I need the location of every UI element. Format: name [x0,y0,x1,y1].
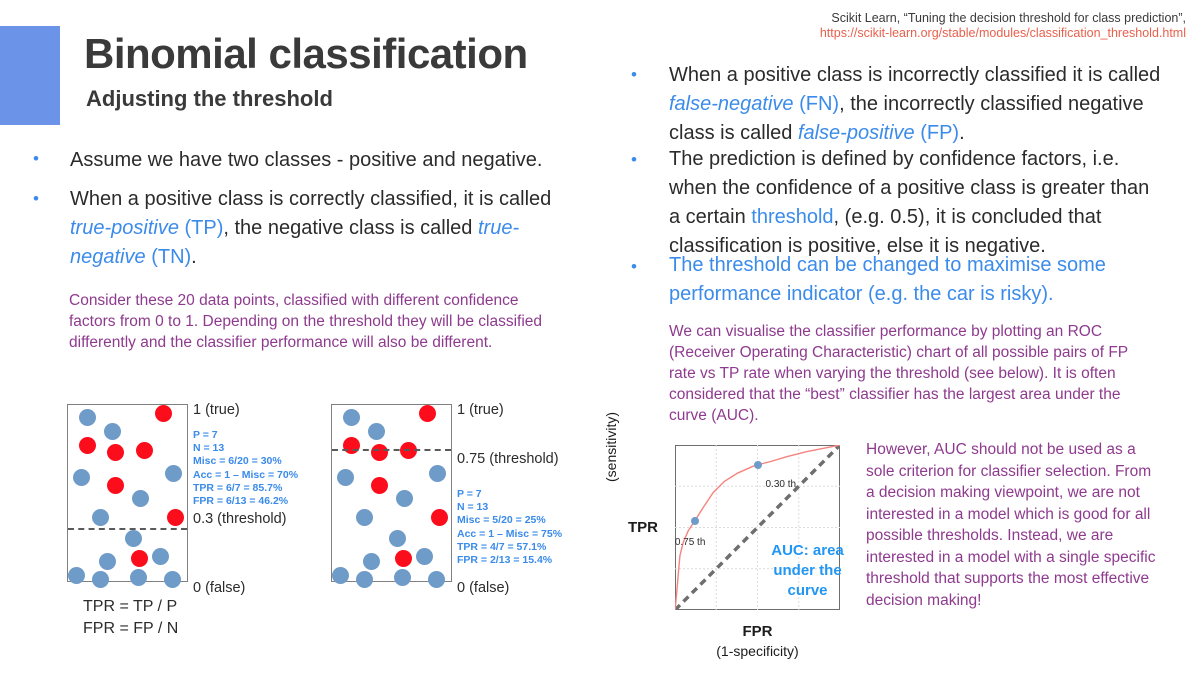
data-point-positive [152,548,169,565]
accent-square [0,26,60,125]
data-point-negative [136,442,153,459]
roc-xlabel: FPR [675,623,840,640]
stat-line: FPR = 6/13 = 46.2% [193,495,298,508]
stat-line: P = 7 [193,429,298,442]
data-point-positive [389,530,406,547]
data-point-negative [107,477,124,494]
data-point-negative [419,405,436,422]
left-bullet-2: When a positive class is correctly class… [70,185,590,272]
data-point-positive [429,465,446,482]
data-point-positive [416,548,433,565]
source-credit-link[interactable]: https://scikit-learn.org/stable/modules/… [566,26,1186,40]
data-point-negative [371,444,388,461]
diagram2-stats: P = 7N = 13Misc = 5/20 = 25%Acc = 1 – Mi… [457,488,562,567]
right-note-2: However, AUC should not be used as a sol… [866,439,1156,611]
threshold-line [68,528,187,530]
stat-line: FPR = 2/13 = 15.4% [457,554,562,567]
data-point-negative [155,405,172,422]
source-credit-title: Scikit Learn, “Tuning the decision thres… [566,11,1186,25]
roc-ylabel-sub: (sensitivity) [603,412,619,482]
data-point-positive [79,409,96,426]
left-bullet-1: Assume we have two classes - positive an… [70,146,600,175]
diagram2-threshold-label: 0.75 (threshold) [457,451,559,467]
page-subtitle: Adjusting the threshold [86,86,333,112]
stat-line: Acc = 1 – Misc = 70% [193,469,298,482]
stat-line: N = 13 [193,442,298,455]
bullet-dot-icon: • [631,258,637,275]
threshold-diagram-1 [67,404,188,582]
threshold-line [332,449,451,451]
left-note: Consider these 20 data points, classifie… [69,290,569,353]
bullet-dot-icon: • [631,151,637,168]
stat-line: TPR = 6/7 = 85.7% [193,482,298,495]
data-point-negative [167,509,184,526]
diagram1-bottom-label: 0 (false) [193,580,245,596]
diagram1-top-label: 1 (true) [193,402,240,418]
slide: Scikit Learn, “Tuning the decision thres… [0,0,1200,675]
data-point-positive [396,490,413,507]
right-bullet-3: The threshold can be changed to maximise… [669,251,1149,309]
data-point-negative [131,550,148,567]
data-point-negative [107,444,124,461]
roc-ylabel: TPR [628,519,658,536]
rate-formulas: TPR = TP / P FPR = FP / N [83,596,178,640]
data-point-negative [431,509,448,526]
page-title: Binomial classification [84,30,528,78]
right-bullet-2: The prediction is defined by confidence … [669,145,1155,261]
data-point-positive [368,423,385,440]
data-point-negative [371,477,388,494]
diagram2-bottom-label: 0 (false) [457,580,509,596]
data-point-positive [356,509,373,526]
data-point-positive [130,569,147,586]
auc-annotation: AUC: area under the curve [755,541,860,601]
data-point-positive [92,571,109,588]
data-point-positive [132,490,149,507]
roc-xlabel-sub: (1-specificity) [675,643,840,659]
data-point-positive [104,423,121,440]
right-bullet-1: When a positive class is incorrectly cla… [669,61,1161,148]
diagram1-threshold-label: 0.3 (threshold) [193,511,287,527]
data-point-positive [337,469,354,486]
stat-line: N = 13 [457,501,562,514]
stat-line: Misc = 6/20 = 30% [193,455,298,468]
data-point-positive [73,469,90,486]
roc-marker-point[interactable] [691,517,699,525]
data-point-positive [343,409,360,426]
data-point-positive [394,569,411,586]
roc-marker-label: 0.30 th [766,479,797,490]
right-note-1: We can visualise the classifier performa… [669,321,1149,426]
stat-line: P = 7 [457,488,562,501]
data-point-positive [165,465,182,482]
bullet-dot-icon: • [33,150,39,167]
stat-line: Misc = 5/20 = 25% [457,514,562,527]
threshold-diagram-2 [331,404,452,582]
data-point-positive [99,553,116,570]
data-point-positive [164,571,181,588]
data-point-negative [395,550,412,567]
stat-line: TPR = 4/7 = 57.1% [457,541,562,554]
data-point-positive [332,567,349,584]
data-point-positive [125,530,142,547]
data-point-positive [356,571,373,588]
bullet-dot-icon: • [631,66,637,83]
roc-marker-point[interactable] [754,461,762,469]
stat-line: Acc = 1 – Misc = 75% [457,528,562,541]
roc-marker-label: 0.75 th [675,537,706,548]
data-point-negative [343,437,360,454]
data-point-positive [68,567,85,584]
source-credit: Scikit Learn, “Tuning the decision thres… [566,11,1186,40]
bullet-dot-icon: • [33,190,39,207]
data-point-positive [363,553,380,570]
data-point-positive [92,509,109,526]
diagram2-top-label: 1 (true) [457,402,504,418]
data-point-negative [79,437,96,454]
diagram1-stats: P = 7N = 13Misc = 6/20 = 30%Acc = 1 – Mi… [193,429,298,508]
data-point-positive [428,571,445,588]
